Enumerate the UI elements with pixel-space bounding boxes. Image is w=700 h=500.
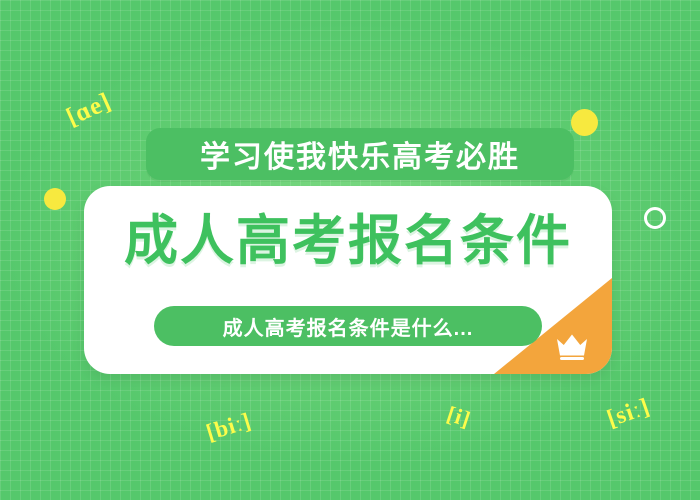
decorative-phonetic-4: [siː] <box>604 394 654 434</box>
banner-pill: 学习使我快乐高考必胜 <box>146 128 574 180</box>
decorative-phonetic-2: [biː] <box>203 408 254 446</box>
decorative-phonetic-3: [i] <box>444 401 475 433</box>
decorative-circle-yellow-small <box>44 188 66 210</box>
card-subtitle-text: 成人高考报名条件是什么... <box>223 312 474 341</box>
card-subtitle-bar: 成人高考报名条件是什么... <box>154 306 542 346</box>
decorative-circle-outline <box>644 207 666 229</box>
decorative-phonetic-1: [ɑe] <box>62 88 116 132</box>
banner-text: 学习使我快乐高考必胜 <box>146 128 574 180</box>
poster-canvas: [ɑe] [biː] [i] [siː] 学习使我快乐高考必胜 成人高考报名条件… <box>0 0 700 500</box>
crown-icon <box>554 330 590 360</box>
card-title: 成人高考报名条件 <box>84 214 612 268</box>
decorative-circle-yellow-medium <box>571 109 598 136</box>
main-card: 成人高考报名条件 成人高考报名条件是什么... <box>84 186 612 374</box>
